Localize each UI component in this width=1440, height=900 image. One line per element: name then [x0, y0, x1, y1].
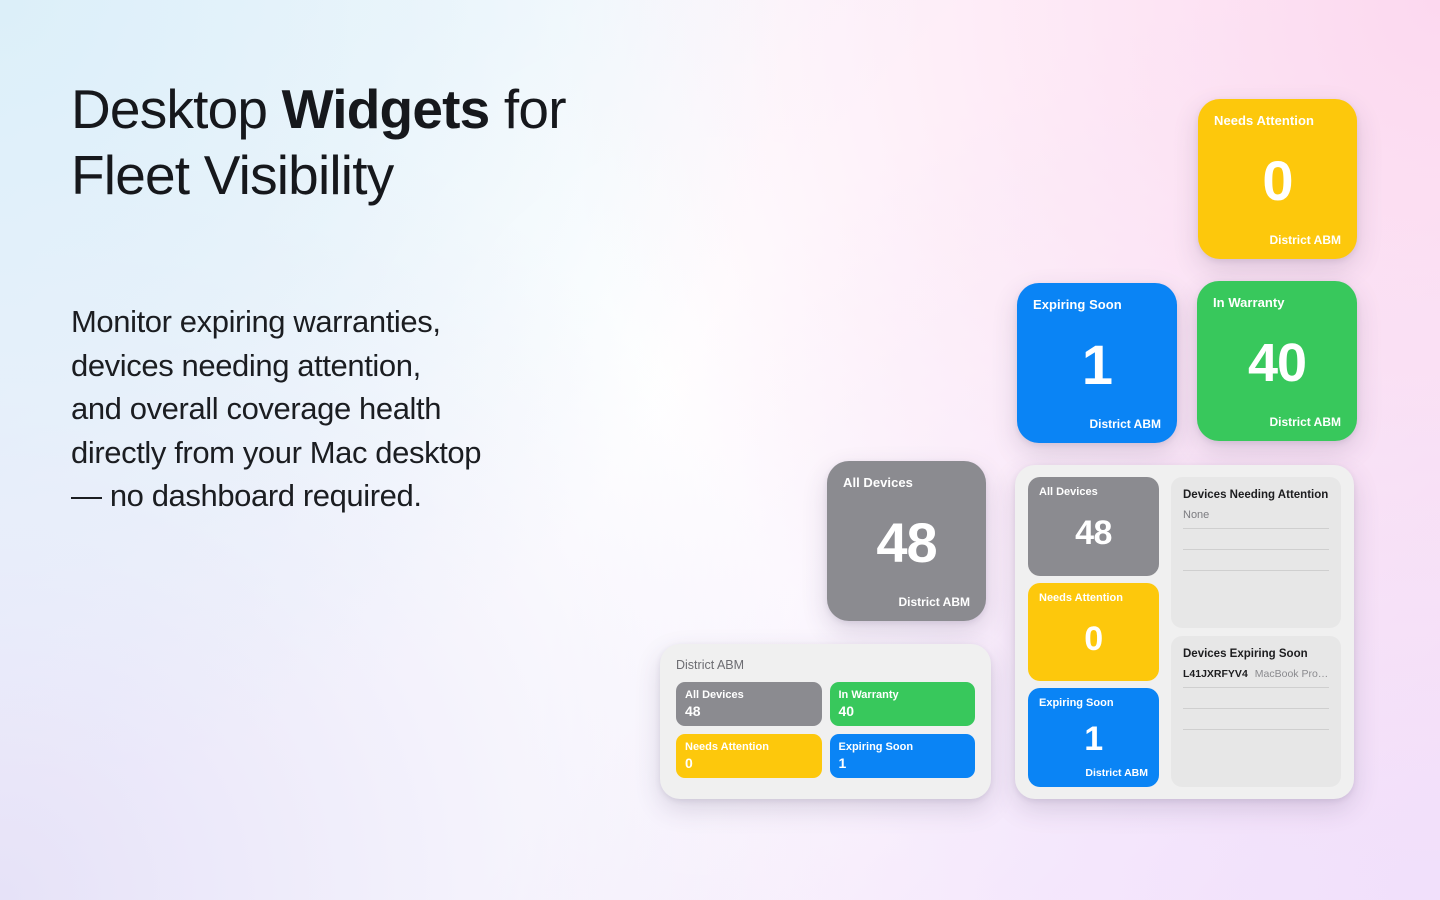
widget-footer: District ABM: [1214, 233, 1341, 247]
summary-tile-expiring-soon[interactable]: Expiring Soon 1: [830, 734, 976, 778]
headline-emphasis: Widgets: [282, 78, 490, 140]
hero-subcopy: Monitor expiring warranties, devices nee…: [71, 300, 671, 518]
widget-all-devices-large[interactable]: All Devices 48 District ABM: [827, 461, 986, 621]
widget-caption: District ABM: [676, 658, 975, 672]
fleet-tile-column: All Devices 48 Needs Attention 0 Expirin…: [1028, 477, 1159, 787]
panel-title: Devices Expiring Soon: [1183, 647, 1329, 661]
widget-footer: District ABM: [1033, 417, 1161, 431]
widget-title: Needs Attention: [1214, 113, 1341, 128]
tile-value: 0: [685, 754, 813, 772]
device-serial: L41JXRFYV4: [1183, 667, 1248, 681]
list-item-empty-label: None: [1183, 508, 1209, 522]
fleet-tile-expiring-soon[interactable]: Expiring Soon 1 District ABM: [1028, 688, 1159, 787]
slide-stage: Desktop Widgets for Fleet Visibility Mon…: [0, 0, 1440, 900]
widget-title: All Devices: [843, 475, 970, 490]
table-row[interactable]: [1183, 688, 1329, 709]
summary-tile-in-warranty[interactable]: In Warranty 40: [830, 682, 976, 726]
tile-footer: District ABM: [1039, 767, 1148, 779]
widget-footer: District ABM: [1213, 415, 1341, 429]
tile-label: Expiring Soon: [1039, 697, 1148, 710]
table-row[interactable]: [1183, 709, 1329, 730]
tile-label: Needs Attention: [1039, 592, 1148, 605]
list-item[interactable]: [1183, 529, 1329, 550]
table-row[interactable]: [1183, 730, 1329, 751]
fleet-tile-all-devices[interactable]: All Devices 48: [1028, 477, 1159, 576]
page-title: Desktop Widgets for Fleet Visibility: [71, 76, 691, 208]
summary-tile-all-devices[interactable]: All Devices 48: [676, 682, 822, 726]
tile-value: 40: [839, 702, 967, 720]
list-item[interactable]: [1183, 571, 1329, 592]
tile-value: 0: [1039, 605, 1148, 674]
tile-label: Expiring Soon: [839, 740, 967, 754]
widget-expiring-soon-large[interactable]: Expiring Soon 1 District ABM: [1017, 283, 1177, 443]
tile-label: Needs Attention: [685, 740, 813, 754]
tile-value: 1: [1039, 710, 1148, 767]
widget-in-warranty-large[interactable]: In Warranty 40 District ABM: [1197, 281, 1357, 441]
widget-title: In Warranty: [1213, 295, 1341, 310]
panel-devices-expiring-soon[interactable]: Devices Expiring Soon L41JXRFYV4 MacBook…: [1171, 636, 1341, 787]
panel-title: Devices Needing Attention: [1183, 488, 1329, 502]
list-item[interactable]: None: [1183, 508, 1329, 529]
tile-value: 48: [1039, 499, 1148, 568]
widget-value: 1: [1033, 312, 1161, 417]
widget-summary-medium[interactable]: District ABM All Devices 48 In Warranty …: [660, 644, 991, 799]
tile-value: 1: [839, 754, 967, 772]
list-item[interactable]: [1183, 550, 1329, 571]
widget-value: 48: [843, 490, 970, 595]
table-row[interactable]: L41JXRFYV4 MacBook Pro…: [1183, 667, 1329, 688]
headline-part-1: Desktop: [71, 78, 282, 140]
tile-label: All Devices: [685, 688, 813, 702]
device-model: MacBook Pro…: [1255, 667, 1329, 681]
panel-devices-needing-attention[interactable]: Devices Needing Attention None: [1171, 477, 1341, 628]
summary-tile-grid: All Devices 48 In Warranty 40 Needs Atte…: [676, 682, 975, 778]
widget-fleet-large[interactable]: All Devices 48 Needs Attention 0 Expirin…: [1015, 465, 1354, 799]
tile-value: 48: [685, 702, 813, 720]
widget-title: Expiring Soon: [1033, 297, 1161, 312]
widget-value: 0: [1214, 128, 1341, 233]
tile-label: In Warranty: [839, 688, 967, 702]
summary-tile-needs-attention[interactable]: Needs Attention 0: [676, 734, 822, 778]
widget-value: 40: [1213, 310, 1341, 415]
widget-needs-attention-large[interactable]: Needs Attention 0 District ABM: [1198, 99, 1357, 259]
hero-copy-block: Desktop Widgets for Fleet Visibility: [71, 76, 691, 208]
tile-label: All Devices: [1039, 486, 1148, 499]
widget-footer: District ABM: [843, 595, 970, 609]
fleet-list-column: Devices Needing Attention None Devices E…: [1171, 477, 1341, 787]
fleet-tile-needs-attention[interactable]: Needs Attention 0: [1028, 583, 1159, 682]
